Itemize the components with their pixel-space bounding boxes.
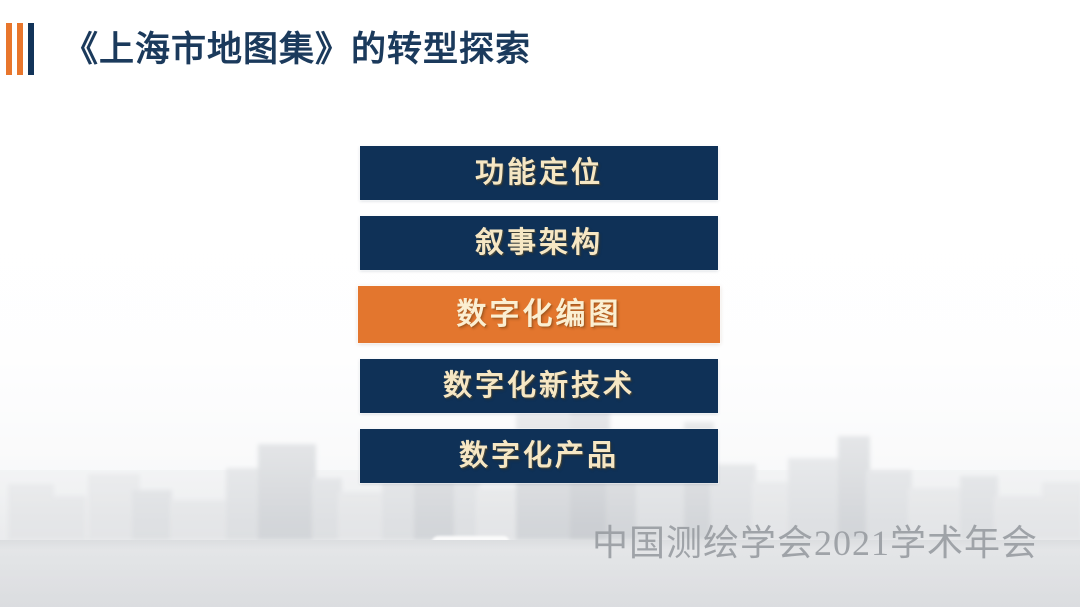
slide-header: 《上海市地图集》的转型探索 — [0, 18, 531, 80]
chapter-label-2: 叙事架构 — [475, 229, 603, 258]
chapter-label-3: 数字化编图 — [457, 300, 622, 330]
page-title: 《上海市地图集》的转型探索 — [63, 32, 531, 67]
chapter-item-3-active[interactable]: 数字化编图 — [358, 286, 720, 343]
chapter-label-4: 数字化新技术 — [443, 372, 635, 401]
conference-watermark: 中国测绘学会2021学术年会 — [592, 525, 1038, 561]
chapter-label-5: 数字化产品 — [459, 442, 619, 471]
chapter-item-4[interactable]: 数字化新技术 — [360, 359, 718, 413]
chapter-item-1[interactable]: 功能定位 — [360, 146, 718, 200]
chapter-label-1: 功能定位 — [475, 159, 603, 188]
chapter-nav-stack: 功能定位 叙事架构 数字化编图 数字化新技术 数字化产品 — [360, 146, 718, 499]
chapter-item-5[interactable]: 数字化产品 — [360, 429, 718, 483]
accent-bar-orange-1 — [6, 23, 12, 75]
presentation-slide: 《上海市地图集》的转型探索 功能定位 叙事架构 数字化编图 数字化新技术 数字化… — [0, 0, 1080, 607]
chapter-item-2[interactable]: 叙事架构 — [360, 216, 718, 270]
accent-bar-orange-2 — [17, 23, 23, 75]
accent-bar-navy — [28, 23, 34, 75]
accent-bar-group — [6, 23, 34, 75]
